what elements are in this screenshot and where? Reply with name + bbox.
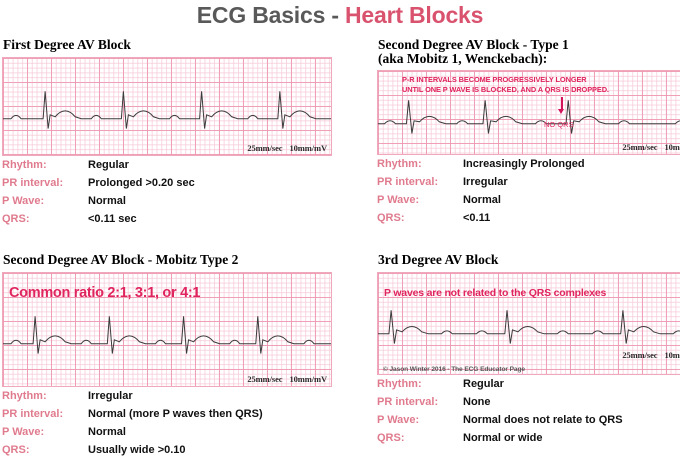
detail-value-pr-interval: Normal (more P waves then QRS) [88, 408, 263, 420]
scale-gain: 10mm/mV [664, 350, 680, 360]
annotation-common-ratio: Common ratio 2:1, 3:1, or 4:1 [9, 285, 200, 301]
detail-label-rhythm: Rhythm: [2, 390, 88, 402]
detail-label-qrs: QRS: [2, 444, 88, 456]
detail-label-p-wave: P Wave: [377, 194, 463, 206]
scale-speed: 25mm/sec [622, 350, 657, 360]
detail-row-rhythm: Rhythm: Regular [377, 378, 680, 396]
detail-label-pr-interval: PR interval: [377, 176, 463, 188]
page-title: ECG Basics - Heart Blocks [0, 2, 680, 29]
panel-heading-line: Second Degree AV Block - Mobitz Type 2 [3, 253, 332, 267]
detail-value-rhythm: Increasingly Prolonged [463, 158, 585, 170]
detail-row-qrs: QRS: Normal or wide [377, 432, 680, 450]
detail-label-p-wave: P Wave: [377, 414, 463, 426]
panel-first-degree-av-block: First Degree AV Block 25mm/sec10mm/mV Rh… [2, 38, 332, 231]
detail-value-qrs: Normal or wide [463, 432, 542, 444]
scale-speed: 25mm/sec [247, 143, 282, 153]
ecg-strip-mobitz-type-2: Common ratio 2:1, 3:1, or 4:1 25mm/sec10… [2, 272, 332, 387]
detail-label-qrs: QRS: [377, 432, 463, 444]
ecg-strip-second-degree-type-1: P-R INTERVALS BECOME PROGRESSIVELY LONGE… [377, 70, 680, 155]
detail-value-qrs: <0.11 sec [88, 213, 137, 225]
detail-value-p-wave: Normal [88, 195, 126, 207]
detail-label-rhythm: Rhythm: [377, 378, 463, 390]
detail-row-p-wave: P Wave: Normal [377, 194, 680, 212]
detail-value-p-wave: Normal does not relate to QRS [463, 414, 623, 426]
detail-row-pr-interval: PR interval: Normal (more P waves then Q… [2, 408, 332, 426]
detail-row-qrs: QRS: Usually wide >0.10 [2, 444, 332, 462]
detail-label-rhythm: Rhythm: [377, 158, 463, 170]
annotation-line: UNTIL ONE P WAVE IS BLOCKED, AND A QRS I… [402, 85, 609, 95]
detail-value-pr-interval: Prolonged >0.20 sec [88, 177, 195, 189]
ecg-scale-label: 25mm/sec10mm/mV [247, 374, 327, 384]
panel-heading-line: (aka Mobitz 1, Wenckebach): [378, 52, 680, 66]
panel-heading-line: 3rd Degree AV Block [378, 253, 680, 267]
detail-row-p-wave: P Wave: Normal [2, 426, 332, 444]
panel-mobitz-type-2: Second Degree AV Block - Mobitz Type 2 C… [2, 253, 332, 462]
page-title-primary: ECG Basics - [197, 2, 345, 28]
detail-value-rhythm: Regular [463, 378, 504, 390]
detail-value-p-wave: Normal [88, 426, 126, 438]
annotation-line: P-R INTERVALS BECOME PROGRESSIVELY LONGE… [402, 75, 609, 85]
detail-label-pr-interval: PR interval: [377, 396, 463, 408]
detail-label-pr-interval: PR interval: [2, 408, 88, 420]
ecg-waveform [3, 58, 331, 155]
panel-third-degree-av-block: 3rd Degree AV Block P waves are not rela… [377, 253, 680, 450]
detail-label-pr-interval: PR interval: [2, 177, 88, 189]
detail-row-rhythm: Rhythm: Increasingly Prolonged [377, 158, 680, 176]
scale-gain: 10mm/mV [289, 374, 327, 384]
panel-heading-line: First Degree AV Block [3, 38, 332, 52]
ecg-strip-first-degree: 25mm/sec10mm/mV [2, 57, 332, 156]
details-table-third-degree: Rhythm: Regular PR interval: None P Wave… [377, 378, 680, 450]
detail-value-pr-interval: None [463, 396, 491, 408]
detail-value-rhythm: Irregular [88, 390, 133, 402]
detail-value-qrs: Usually wide >0.10 [88, 444, 186, 456]
panel-heading-line: Second Degree AV Block - Type 1 [378, 38, 680, 52]
detail-value-rhythm: Regular [88, 159, 129, 171]
detail-row-p-wave: P Wave: Normal does not relate to QRS [377, 414, 680, 432]
panel-heading: First Degree AV Block [3, 38, 332, 52]
ecg-strip-third-degree: P waves are not related to the QRS compl… [377, 272, 680, 375]
scale-gain: 10mm/mV [289, 143, 327, 153]
detail-label-qrs: QRS: [377, 212, 463, 224]
page-title-accent: Heart Blocks [345, 2, 483, 28]
details-table-second-degree-type-1: Rhythm: Increasingly Prolonged PR interv… [377, 158, 680, 230]
annotation-p-waves-unrelated: P waves are not related to the QRS compl… [384, 287, 606, 299]
scale-gain: 10mm/mV [664, 142, 680, 152]
detail-row-pr-interval: PR interval: None [377, 396, 680, 414]
detail-row-p-wave: P Wave: Normal [2, 195, 332, 213]
ecg-scale-label: 25mm/sec10mm/mV [622, 142, 680, 152]
panel-heading: 3rd Degree AV Block [378, 253, 680, 267]
detail-value-p-wave: Normal [463, 194, 501, 206]
annotation-progressive-pr: P-R INTERVALS BECOME PROGRESSIVELY LONGE… [402, 75, 609, 94]
copyright-notice: © Jason Winter 2016 - The ECG Educator P… [383, 366, 525, 373]
no-qrs-label: NO QRS [544, 120, 574, 129]
details-table-first-degree: Rhythm: Regular PR interval: Prolonged >… [2, 159, 332, 231]
scale-speed: 25mm/sec [622, 142, 657, 152]
detail-row-pr-interval: PR interval: Prolonged >0.20 sec [2, 177, 332, 195]
detail-row-pr-interval: PR interval: Irregular [377, 176, 680, 194]
detail-row-rhythm: Rhythm: Regular [2, 159, 332, 177]
ecg-scale-label: 25mm/sec10mm/mV [247, 143, 327, 153]
panel-heading: Second Degree AV Block - Type 1 (aka Mob… [378, 38, 680, 65]
detail-value-qrs: <0.11 [463, 212, 490, 224]
detail-label-p-wave: P Wave: [2, 426, 88, 438]
detail-row-rhythm: Rhythm: Irregular [2, 390, 332, 408]
scale-speed: 25mm/sec [247, 374, 282, 384]
detail-label-p-wave: P Wave: [2, 195, 88, 207]
detail-value-pr-interval: Irregular [463, 176, 508, 188]
panel-heading: Second Degree AV Block - Mobitz Type 2 [3, 253, 332, 267]
detail-row-qrs: QRS: <0.11 [377, 212, 680, 230]
detail-row-qrs: QRS: <0.11 sec [2, 213, 332, 231]
panel-second-degree-type-1: Second Degree AV Block - Type 1 (aka Mob… [377, 38, 680, 230]
ecg-scale-label: 25mm/sec10mm/mV [622, 350, 680, 360]
detail-label-rhythm: Rhythm: [2, 159, 88, 171]
detail-label-qrs: QRS: [2, 213, 88, 225]
